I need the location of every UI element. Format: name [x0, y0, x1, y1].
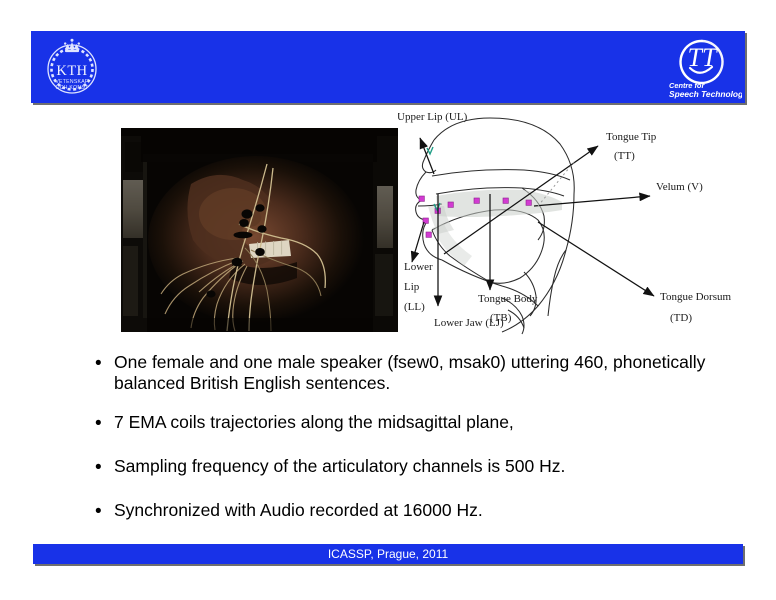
footer-bar: ICASSP, Prague, 2011 [33, 544, 743, 564]
diagram-label-tongue-body-line1: Tongue Body [478, 293, 538, 305]
svg-text:KTH: KTH [56, 63, 87, 79]
diagram-label-lower-lip-line3: (LL) [404, 301, 425, 313]
bullet-text: 7 EMA coils trajectories along the midsa… [114, 412, 728, 433]
svg-text:Speech Technology: Speech Technology [669, 89, 742, 99]
list-item: • 7 EMA coils trajectories along the mid… [88, 412, 728, 435]
diagram-label-lower-lip-line2: Lip [404, 281, 420, 293]
diagram-label-lower-lip-line1: Lower [404, 261, 433, 273]
diagram-label-upper-lip: Upper Lip (UL) [398, 111, 468, 123]
svg-text:TT: TT [688, 43, 718, 72]
slide: KTH VETENSKAP OCH KONST Data (MOCHA-TIMI… [0, 0, 776, 600]
bullet-text: Sampling frequency of the articulatory c… [114, 456, 728, 477]
diagram-label-tongue-body-line2: (TB) [490, 312, 512, 324]
bullet-marker: • [88, 412, 114, 435]
ctt-logo: TT Centre for Speech Technology [662, 35, 742, 101]
ema-subject-photo [121, 128, 398, 332]
header-bar [31, 31, 745, 103]
bullet-marker: • [88, 352, 114, 375]
svg-text:OCH KONST: OCH KONST [56, 85, 89, 91]
list-item: • Synchronized with Audio recorded at 16… [88, 500, 728, 523]
bullet-text: One female and one male speaker (fsew0, … [114, 352, 728, 394]
list-item: • Sampling frequency of the articulatory… [88, 456, 728, 479]
diagram-label-velum: Velum (V) [656, 181, 703, 193]
bullet-list: • One female and one male speaker (fsew0… [88, 352, 728, 541]
list-item: • One female and one male speaker (fsew0… [88, 352, 728, 394]
kth-logo: KTH VETENSKAP OCH KONST [39, 34, 105, 100]
diagram-label-tongue-dorsum-line2: (TD) [670, 312, 692, 324]
bullet-marker: • [88, 456, 114, 479]
diagram-label-tongue-dorsum-line1: Tongue Dorsum [660, 291, 731, 303]
diagram-label-tongue-tip-line2: (TT) [614, 150, 635, 162]
diagram-label-tongue-tip-line1: Tongue Tip [606, 131, 657, 143]
midsagittal-vocal-tract-diagram: Upper Lip (UL) Tongue Tip (TT) Velum (V)… [398, 110, 776, 338]
bullet-text: Synchronized with Audio recorded at 1600… [114, 500, 728, 521]
bullet-marker: • [88, 500, 114, 523]
